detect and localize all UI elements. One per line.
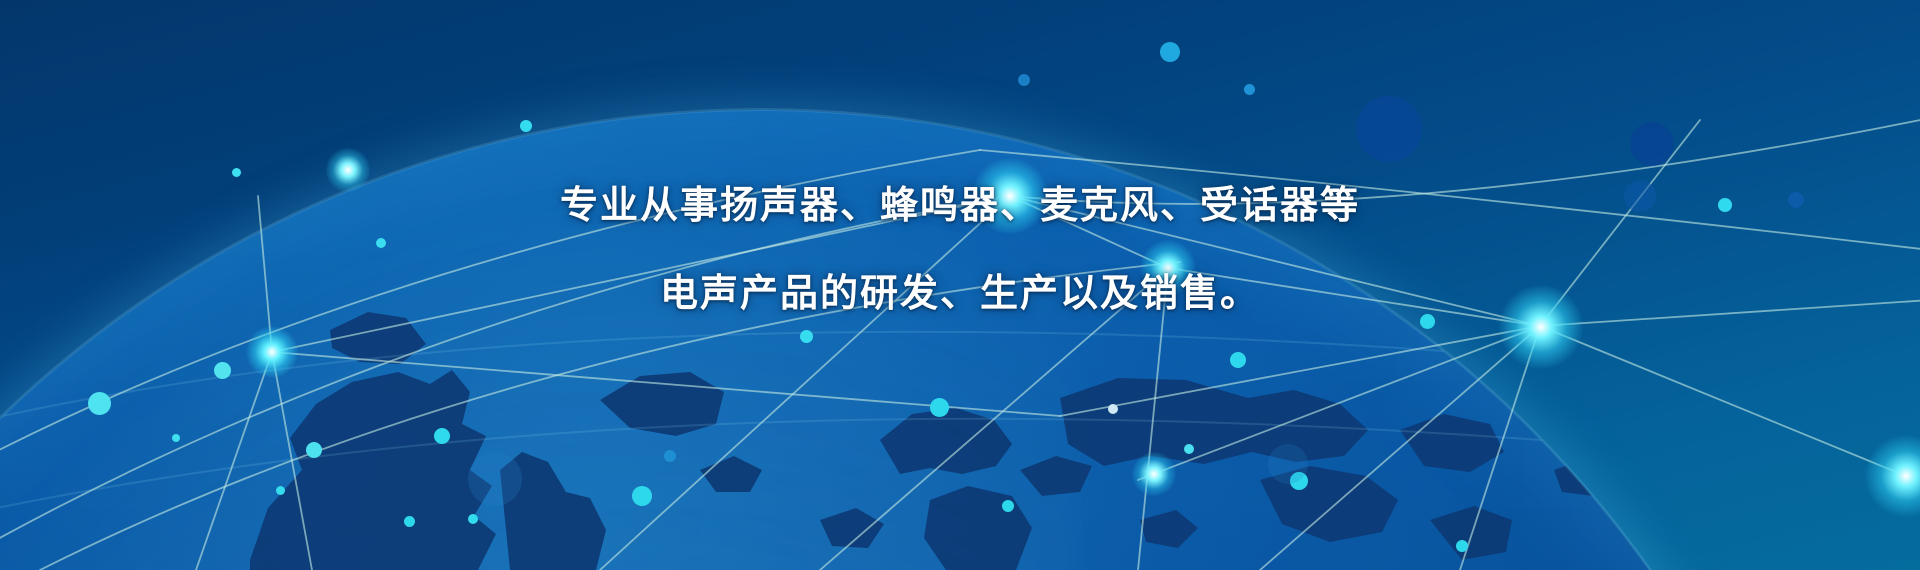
headline-line-1: 专业从事扬声器、蜂鸣器、麦克风、受话器等 [0,168,1920,244]
banner-headline: 专业从事扬声器、蜂鸣器、麦克风、受话器等 电声产品的研发、生产以及销售。 [0,168,1920,332]
headline-line-2: 电声产品的研发、生产以及销售。 [0,256,1920,332]
hero-banner: 专业从事扬声器、蜂鸣器、麦克风、受话器等 电声产品的研发、生产以及销售。 [0,0,1920,570]
node-glow [1864,434,1920,518]
